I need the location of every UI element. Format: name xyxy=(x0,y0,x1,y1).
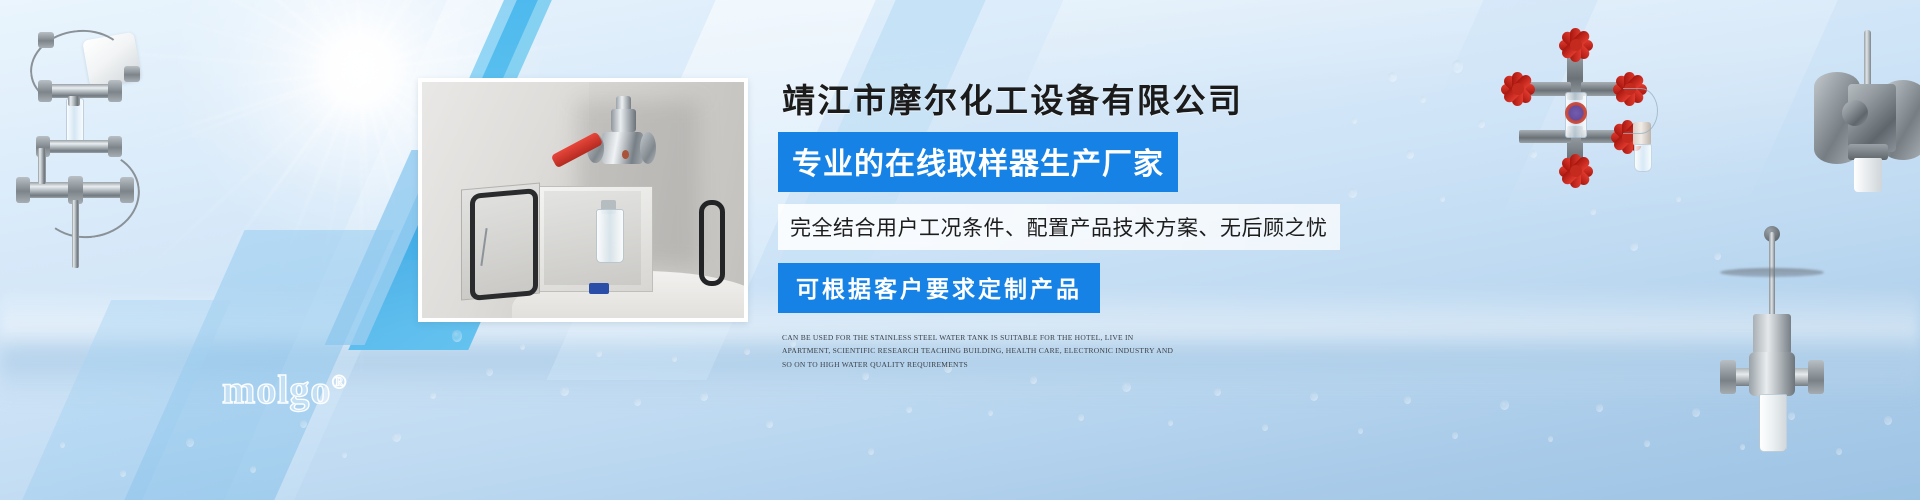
photo-door-seal xyxy=(470,188,538,301)
water-droplet xyxy=(1310,392,1318,401)
sampler-probe xyxy=(72,200,79,268)
water-droplet xyxy=(744,348,750,355)
sampler-stem xyxy=(68,96,80,106)
sun-ray xyxy=(360,70,420,303)
photo-sample-bottle xyxy=(596,209,624,263)
sun-ray xyxy=(360,70,369,220)
photo-cabinet-interior xyxy=(544,191,641,285)
sampler-flange xyxy=(124,66,140,82)
water-droplet xyxy=(60,442,65,448)
sun-ray xyxy=(153,0,363,71)
photo-door-handle xyxy=(699,200,725,286)
product-photo xyxy=(418,78,748,322)
bottom-valve-flange-right xyxy=(1808,360,1824,394)
sun-ray xyxy=(219,69,362,264)
sun-ray xyxy=(360,0,449,70)
sampler-flange xyxy=(16,177,30,203)
water-droplet xyxy=(1676,196,1681,202)
sun-ray xyxy=(233,69,361,150)
water-droplet xyxy=(766,420,773,428)
water-droplet xyxy=(1358,428,1363,434)
water-droplet xyxy=(120,470,126,477)
handwheel-bottom xyxy=(1559,154,1593,188)
logo-wordmark: molgo xyxy=(222,367,331,412)
english-description: CAN BE USED FOR THE STAINLESS STEEL WATE… xyxy=(782,331,1182,373)
handwheel-left xyxy=(1501,72,1535,106)
cross-valve-sample-cup xyxy=(1634,144,1652,172)
water-droplet xyxy=(520,344,525,350)
headline-block: 靖江市摩尔化工设备有限公司 专业的在线取样器生产厂家 完全结合用户工况条件、配置… xyxy=(778,74,1398,380)
sampler-needle-valve xyxy=(38,148,46,184)
water-droplet xyxy=(1122,382,1131,392)
sun-ray xyxy=(219,0,362,71)
subline-badge: 完全结合用户工况条件、配置产品技术方案、无后顾之忧 xyxy=(778,204,1340,250)
water-droplet xyxy=(1590,208,1596,215)
water-droplet xyxy=(1500,400,1509,410)
cross-valve-tubing xyxy=(1623,88,1658,134)
sun-ray xyxy=(360,70,363,400)
water-droplet xyxy=(1478,120,1485,128)
water-droplet xyxy=(300,420,307,428)
sun-ray xyxy=(137,69,362,157)
product-bottom-valve xyxy=(1712,232,1832,482)
sun-ray xyxy=(129,7,361,71)
water-droplet xyxy=(1548,436,1553,442)
water-droplet xyxy=(1078,414,1084,421)
sun-ray xyxy=(360,0,452,70)
flange-valve-hub xyxy=(1842,100,1868,126)
sun-ray xyxy=(360,0,565,71)
flange-valve-lever xyxy=(1864,30,1871,92)
water-droplet xyxy=(1404,396,1411,404)
sun-ray xyxy=(324,0,362,70)
sun-ray xyxy=(360,0,363,70)
water-droplet xyxy=(342,452,347,458)
sun-ray xyxy=(177,0,362,71)
water-droplet xyxy=(988,410,993,416)
bottom-valve-sample-cup xyxy=(1759,394,1787,452)
sampler-flange xyxy=(38,80,52,102)
handwheel-top xyxy=(1559,28,1593,62)
sun-ray xyxy=(360,0,390,70)
water-droplet xyxy=(1692,408,1700,417)
sampler-flange xyxy=(38,32,54,48)
cross-valve-emblem xyxy=(1565,102,1587,124)
cross-valve-stem xyxy=(1519,130,1571,143)
company-title: 靖江市摩尔化工设备有限公司 xyxy=(782,74,1398,122)
water-droplet xyxy=(1420,96,1426,103)
sun-ray xyxy=(360,0,492,71)
promo-banner: 靖江市摩尔化工设备有限公司 专业的在线取样器生产厂家 完全结合用户工况条件、配置… xyxy=(0,0,1920,500)
sun-ray xyxy=(132,69,361,145)
sun-ray xyxy=(360,16,501,71)
water-droplet xyxy=(250,466,256,473)
bottom-valve-flange-left xyxy=(1720,360,1736,394)
diagonal-stripe xyxy=(9,300,231,500)
water-droplet xyxy=(1452,432,1458,439)
water-droplet xyxy=(186,438,194,447)
registered-trademark-icon: ® xyxy=(331,372,347,394)
water-droplet xyxy=(1630,242,1638,251)
bottom-valve-body xyxy=(1749,352,1795,396)
water-droplet xyxy=(868,448,874,455)
sun-ray xyxy=(151,0,362,71)
sun-ray xyxy=(278,70,361,197)
water-droplet xyxy=(430,392,436,399)
water-droplet xyxy=(596,350,602,357)
water-droplet xyxy=(1452,60,1463,73)
sampler-cross-pipe xyxy=(46,140,112,153)
sun-ray xyxy=(360,0,603,71)
sampler-cross-pipe xyxy=(48,84,112,98)
water-droplet xyxy=(1644,440,1650,447)
photo-blue-cap xyxy=(589,283,608,295)
product-left-sampler xyxy=(8,22,158,252)
sun-ray xyxy=(259,0,362,70)
custom-order-badge: 可根据客户要求定制产品 xyxy=(778,263,1100,313)
water-droplet xyxy=(1836,448,1842,455)
sun-ray xyxy=(314,70,362,306)
sun-ray xyxy=(361,40,599,71)
sun-ray xyxy=(218,23,361,71)
bottom-valve-disc xyxy=(1720,268,1824,277)
sampler-flange xyxy=(108,136,122,157)
bottom-valve-bonnet xyxy=(1753,314,1791,354)
water-droplet xyxy=(634,398,641,406)
water-droplet xyxy=(1406,150,1414,159)
water-droplet xyxy=(486,368,493,376)
sun-ray xyxy=(347,0,362,70)
headline-badge: 专业的在线取样器生产厂家 xyxy=(778,132,1178,192)
flange-valve-sample-cup xyxy=(1854,158,1882,192)
sun-ray xyxy=(361,0,590,71)
water-droplet xyxy=(1168,420,1173,426)
water-droplet xyxy=(906,406,912,413)
water-droplet xyxy=(1596,404,1603,412)
water-droplet xyxy=(1884,416,1892,425)
water-droplet xyxy=(1214,388,1221,396)
sun-ray xyxy=(212,69,361,89)
sampler-flange xyxy=(108,80,122,102)
water-droplet xyxy=(672,356,677,362)
product-cross-valve xyxy=(1505,30,1665,190)
water-droplet xyxy=(1262,424,1268,431)
water-droplet xyxy=(560,386,569,396)
product-flange-valve xyxy=(1812,28,1920,208)
water-droplet xyxy=(452,330,462,342)
diagonal-stripe xyxy=(115,230,394,500)
brand-logo: molgo® xyxy=(222,366,347,413)
water-droplet xyxy=(1440,196,1445,202)
sun-ray xyxy=(270,70,362,293)
water-droplet xyxy=(392,432,401,442)
sampler-flange xyxy=(120,177,134,203)
water-droplet xyxy=(700,392,708,401)
